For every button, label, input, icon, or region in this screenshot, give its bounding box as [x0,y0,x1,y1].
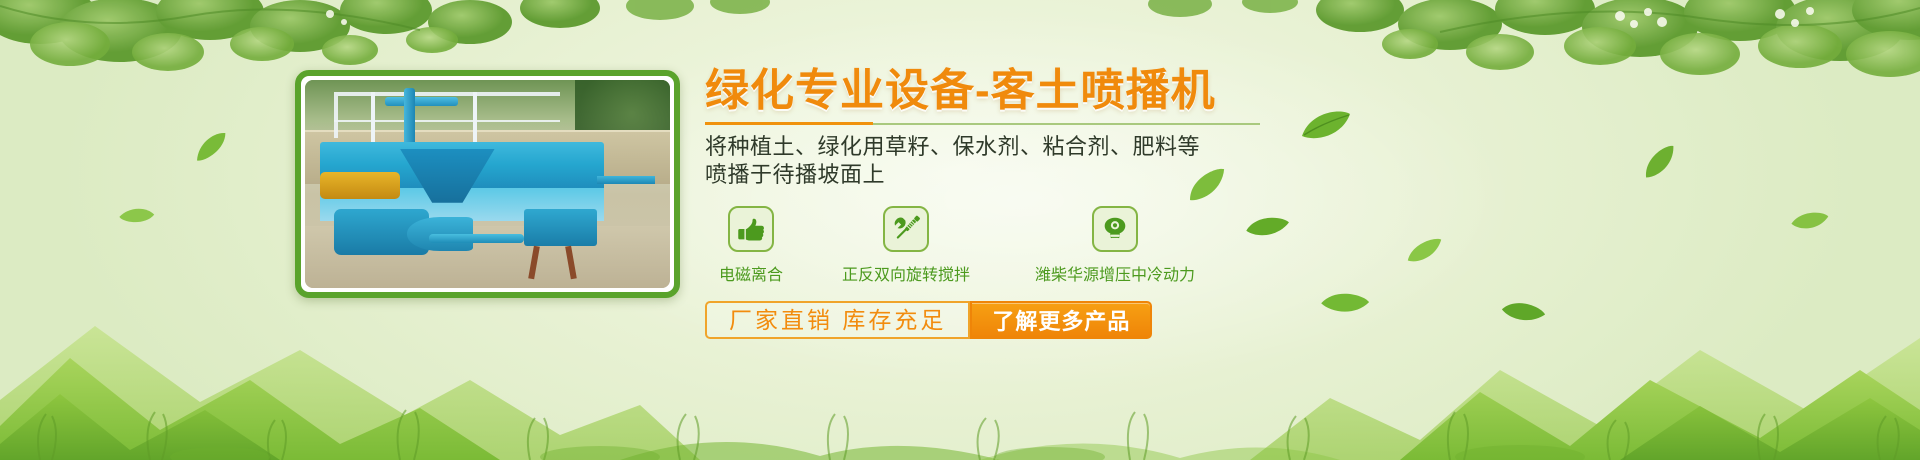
banner-subtitle: 将种植土、绿化用草籽、保水剂、粘合剂、肥料等 喷播于待播坡面上 [705,133,1305,190]
engine-power-icon-box [1092,206,1138,252]
subtitle-line-1: 将种植土、绿化用草籽、保水剂、粘合剂、肥料等 [705,133,1305,162]
subtitle-line-2: 喷播于待播坡面上 [705,161,1305,190]
wrench-screwdriver-icon-box [883,206,929,252]
feature-list: 电磁离合 [705,206,1305,285]
title-divider [705,122,1260,125]
floating-leaf-icon [1636,142,1686,186]
floating-leaf-icon [1403,237,1446,269]
thumbs-up-icon-box [728,206,774,252]
feature-item-mixing[interactable]: 正反双向旋转搅拌 [815,206,997,285]
feature-label: 正反双向旋转搅拌 [815,261,997,285]
floating-leaf-icon [187,124,234,163]
feature-item-clutch[interactable]: 电磁离合 [705,206,797,285]
wrench-screwdriver-icon [891,214,921,244]
promo-banner: 绿化专业设备-客土喷播机 将种植土、绿化用草籽、保水剂、粘合剂、肥料等 喷播于待… [0,0,1920,460]
grass-decoration [0,365,1920,460]
feature-item-engine[interactable]: 潍柴华源增压中冷动力 [1015,206,1215,285]
slogan-badge: 厂家直销 库存充足 [705,301,970,339]
feature-label: 潍柴华源增压中冷动力 [1015,261,1215,285]
product-photo-frame[interactable] [295,70,680,298]
engine-power-icon [1100,214,1130,244]
learn-more-button[interactable]: 了解更多产品 [970,301,1152,339]
product-photo [305,80,670,288]
feature-label: 电磁离合 [705,261,797,285]
banner-content: 绿化专业设备-客土喷播机 将种植土、绿化用草籽、保水剂、粘合剂、肥料等 喷播于待… [705,68,1305,339]
floating-leaf-icon [1300,110,1352,145]
page-title: 绿化专业设备-客土喷播机 [705,68,1305,115]
cta-row: 厂家直销 库存充足 了解更多产品 [705,301,1305,339]
thumbs-up-icon [736,214,766,244]
floating-leaf-icon [117,195,159,231]
